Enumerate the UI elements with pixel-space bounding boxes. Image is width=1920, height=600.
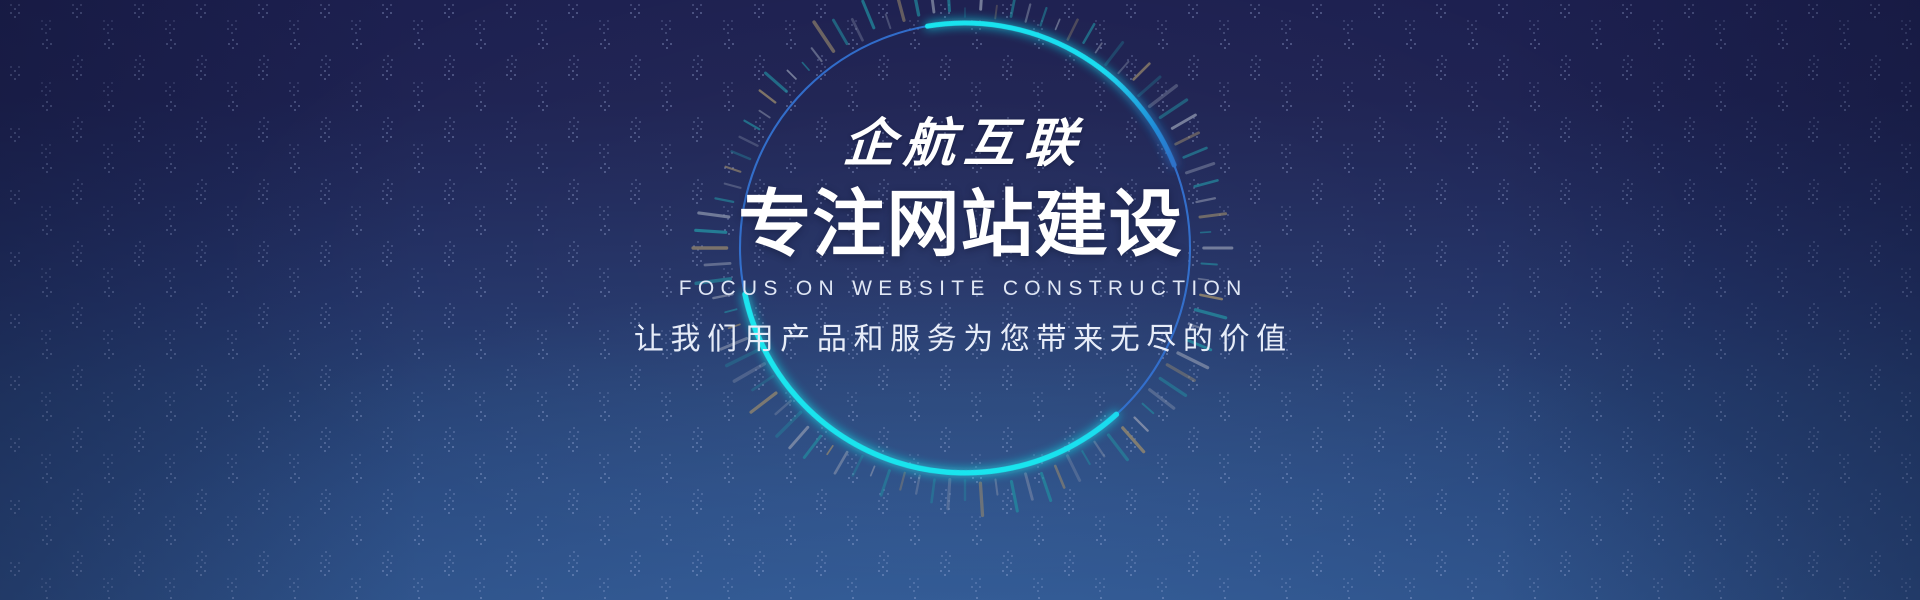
ring-tick bbox=[1202, 264, 1217, 265]
ring-tick bbox=[853, 456, 862, 475]
ring-tick bbox=[932, 480, 935, 502]
ring-tick bbox=[1096, 43, 1102, 52]
ring-tick bbox=[744, 121, 759, 130]
ring-tick bbox=[1139, 77, 1160, 96]
ring-tick bbox=[1109, 435, 1128, 460]
ring-tick bbox=[1056, 19, 1060, 29]
ring-tick bbox=[1160, 378, 1185, 395]
ring-tick bbox=[802, 63, 809, 70]
ring-tick bbox=[760, 91, 775, 103]
ring-tick bbox=[981, 0, 983, 9]
ring-tick bbox=[804, 436, 820, 457]
ring-tick bbox=[1095, 442, 1105, 457]
ring-tick bbox=[1178, 353, 1208, 368]
ring-tick bbox=[1055, 466, 1064, 488]
ring-tick bbox=[1196, 198, 1214, 202]
ring-tick bbox=[1082, 451, 1089, 464]
ring-tick bbox=[790, 427, 808, 448]
ring-tick bbox=[833, 20, 847, 43]
ring-tick bbox=[827, 446, 833, 454]
ring-tick bbox=[1135, 418, 1148, 431]
ring-tick bbox=[1172, 115, 1195, 128]
hero-banner: 企航互联 专注网站建设 FOCUS ON WEBSITE CONSTRUCTIO… bbox=[0, 0, 1920, 600]
ring-tick bbox=[734, 364, 764, 381]
ring-tick bbox=[1199, 279, 1209, 280]
ring-tick bbox=[835, 452, 847, 473]
ring-tick bbox=[1176, 133, 1199, 144]
ring-tick bbox=[1167, 365, 1194, 381]
ring-tick bbox=[1200, 214, 1226, 217]
ring-tick bbox=[787, 70, 795, 78]
ring-tick bbox=[696, 279, 730, 284]
ring-tick bbox=[912, 0, 918, 15]
ring-tick bbox=[1187, 340, 1211, 350]
ring-tick bbox=[1143, 404, 1154, 413]
ring-tick bbox=[995, 6, 997, 19]
ring-tick bbox=[1011, 0, 1016, 17]
ring-tick bbox=[980, 483, 982, 515]
ring-tick bbox=[776, 401, 791, 414]
ring-tick bbox=[729, 324, 740, 328]
ring-tick bbox=[725, 309, 736, 312]
ring-tick bbox=[721, 338, 747, 349]
ring-tick bbox=[1186, 164, 1213, 173]
ring-tick bbox=[696, 230, 726, 232]
ring-tick bbox=[1195, 310, 1225, 318]
ring-tick bbox=[1067, 456, 1079, 481]
ring-tick bbox=[1042, 473, 1051, 500]
ring-tick bbox=[725, 184, 741, 188]
ring-tick bbox=[1150, 390, 1174, 408]
ring-tick bbox=[896, 0, 904, 20]
ring-tick-marks bbox=[693, 0, 1232, 515]
ring-tick bbox=[1189, 324, 1204, 329]
ring-tick bbox=[916, 476, 920, 494]
ring-tick bbox=[727, 350, 758, 365]
ring-tick bbox=[812, 48, 822, 61]
ring-tick bbox=[751, 393, 776, 412]
ring-tick bbox=[814, 22, 833, 51]
ring-tick bbox=[1026, 474, 1033, 500]
ring-tick bbox=[900, 473, 904, 490]
ring-tick bbox=[1201, 232, 1211, 233]
ring-tick bbox=[713, 294, 732, 298]
ring-tick bbox=[726, 167, 741, 172]
ring-tick bbox=[705, 263, 730, 265]
ring-tick bbox=[1160, 100, 1186, 118]
ring-tick bbox=[948, 480, 950, 509]
ring-tick bbox=[1150, 86, 1177, 107]
ring-svg bbox=[625, 0, 1305, 588]
cyan-arc-bottom bbox=[729, 294, 1125, 489]
ring-tick bbox=[1026, 4, 1031, 21]
ring-tick bbox=[1011, 482, 1017, 511]
ring-tick bbox=[1118, 62, 1128, 73]
ring-tick bbox=[1041, 8, 1047, 25]
ring-tick bbox=[852, 19, 862, 40]
ring-tick bbox=[930, 0, 934, 12]
ring-tick bbox=[759, 111, 769, 118]
ring-tick bbox=[1123, 428, 1144, 452]
ring-tick bbox=[1200, 295, 1221, 299]
ring-tick bbox=[1195, 180, 1218, 186]
ring-tick bbox=[886, 14, 891, 28]
ring-tick bbox=[871, 466, 875, 475]
ring-tick bbox=[765, 73, 786, 91]
ring-tick bbox=[1184, 148, 1207, 157]
ring-tick bbox=[732, 151, 750, 159]
ring-tick bbox=[1068, 20, 1078, 40]
ring-tick bbox=[699, 213, 729, 217]
cyan-arc-top-right bbox=[927, 0, 1174, 220]
ring-tick bbox=[948, 0, 950, 11]
ring-tick bbox=[881, 471, 889, 496]
ring-tick bbox=[1134, 64, 1150, 80]
ring-tick bbox=[1106, 43, 1123, 65]
ring-tick bbox=[777, 412, 801, 436]
ring-tick bbox=[863, 1, 874, 28]
ring-tick bbox=[995, 480, 997, 495]
ring-tick bbox=[740, 137, 758, 146]
ring-tick bbox=[753, 376, 773, 390]
ring-tick bbox=[1084, 24, 1095, 42]
ring-tick bbox=[715, 198, 733, 202]
